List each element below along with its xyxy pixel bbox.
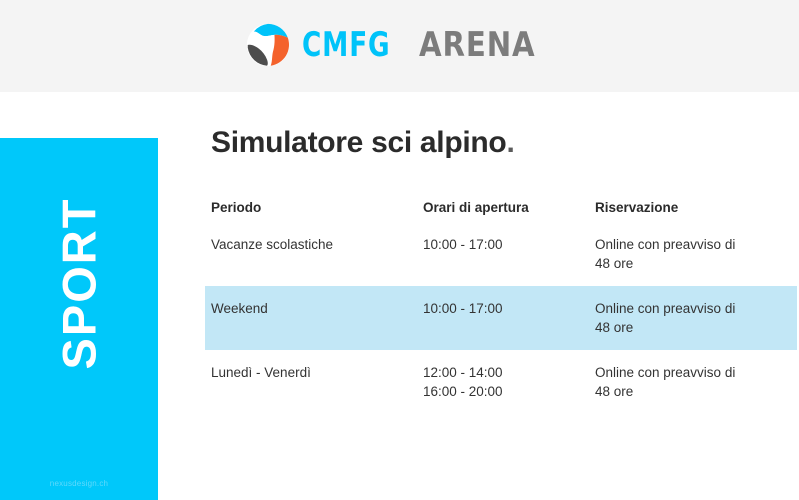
cell-orari-line-1: 10:00 - 17:00 <box>423 299 595 318</box>
brand-name-secondary: ARENA <box>419 28 536 62</box>
cell-orari: 12:00 - 14:00 16:00 - 20:00 <box>423 363 595 401</box>
table-row: Weekend 10:00 - 17:00 Online con preavvi… <box>211 286 791 350</box>
cell-riservazione-line-1: Online con preavviso di <box>595 299 791 318</box>
cell-riservazione-line-2: 48 ore <box>595 382 791 401</box>
cell-orari: 10:00 - 17:00 <box>423 299 595 318</box>
table-row: Lunedì - Venerdì 12:00 - 14:00 16:00 - 2… <box>211 350 791 414</box>
cell-periodo: Lunedì - Venerdì <box>211 363 423 382</box>
main-content: Simulatore sci alpino. Periodo Orari di … <box>211 126 791 415</box>
sidebar-label-wrapper: SPORT <box>0 138 158 428</box>
cell-riservazione-line-1: Online con preavviso di <box>595 363 791 382</box>
column-header-riservazione: Riservazione <box>595 198 791 217</box>
header-band: CMFG ARENA <box>0 0 799 92</box>
designer-credit: nexusdesign.ch <box>0 479 158 488</box>
page-title-text: Simulatore sci alpino <box>211 126 506 159</box>
cell-riservazione-line-1: Online con preavviso di <box>595 235 791 254</box>
page-title: Simulatore sci alpino. <box>211 126 791 161</box>
schedule-table: Periodo Orari di apertura Riservazione V… <box>211 198 791 415</box>
table-row: Vacanze scolastiche 10:00 - 17:00 Online… <box>211 222 791 286</box>
brand-wordmark: CMFG ARENA <box>302 28 554 62</box>
cell-riservazione: Online con preavviso di 48 ore <box>595 299 791 337</box>
cell-periodo: Vacanze scolastiche <box>211 235 423 254</box>
cell-orari-line-1: 10:00 - 17:00 <box>423 235 595 254</box>
cell-riservazione: Online con preavviso di 48 ore <box>595 363 791 401</box>
cell-riservazione: Online con preavviso di 48 ore <box>595 235 791 273</box>
cell-riservazione-line-2: 48 ore <box>595 318 791 337</box>
column-header-periodo: Periodo <box>211 198 423 217</box>
cell-orari-line-1: 12:00 - 14:00 <box>423 363 595 382</box>
cell-orari: 10:00 - 17:00 <box>423 235 595 254</box>
cell-orari-line-2: 16:00 - 20:00 <box>423 382 595 401</box>
cell-periodo: Weekend <box>211 299 423 318</box>
category-sidebar: SPORT nexusdesign.ch <box>0 138 158 500</box>
table-header-row: Periodo Orari di apertura Riservazione <box>211 198 791 222</box>
page-title-period: . <box>506 126 514 159</box>
brand-name-primary: CMFG <box>302 28 390 62</box>
cmfg-globe-logo-icon <box>245 22 291 68</box>
cell-riservazione-line-2: 48 ore <box>595 254 791 273</box>
sidebar-category-label: SPORT <box>56 197 103 369</box>
brand-lockup: CMFG ARENA <box>245 22 554 68</box>
column-header-orari: Orari di apertura <box>423 198 595 217</box>
